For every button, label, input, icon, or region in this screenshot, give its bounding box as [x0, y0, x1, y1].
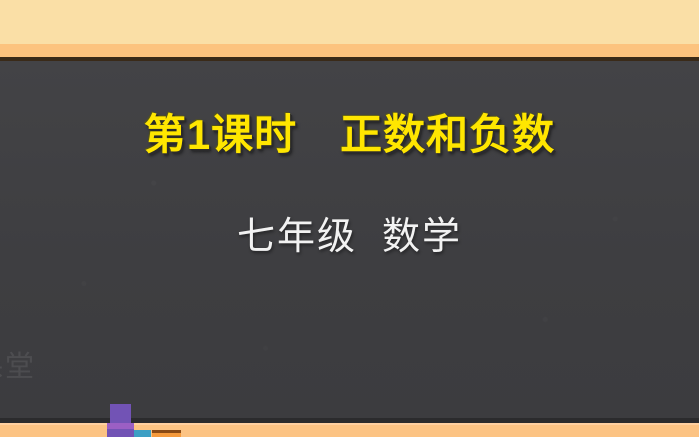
wall-lower-band — [0, 44, 699, 57]
desk-shelf — [0, 423, 699, 437]
book-purple-upper — [110, 404, 131, 423]
chalkboard: 第1课时 正数和负数 七年级 数学 课堂 — [0, 61, 699, 420]
book-orange-lower — [152, 433, 181, 437]
watermark-text: 课堂 — [0, 353, 36, 382]
lesson-title: 第1课时 正数和负数 — [0, 114, 699, 156]
desk-shelf-highlight — [0, 423, 699, 425]
lesson-slide: 第1课时 正数和负数 七年级 数学 课堂 — [0, 0, 699, 437]
wall-upper-band — [0, 0, 699, 44]
lesson-subtitle: 七年级 数学 — [0, 218, 699, 256]
book-purple-lower — [107, 429, 134, 437]
book-teal — [134, 430, 151, 437]
